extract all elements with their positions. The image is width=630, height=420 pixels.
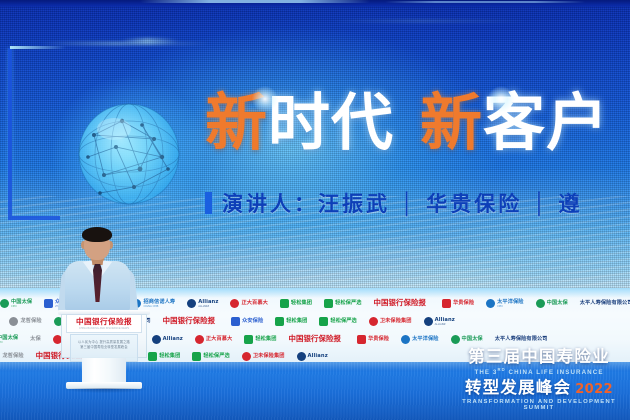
badge-en-ordinal: RD bbox=[497, 367, 505, 372]
badge-line1-cn: 第三届中国寿险业 bbox=[454, 349, 624, 366]
sponsor-logo: AllianzALLIANZ bbox=[187, 299, 218, 308]
sponsor-logo: 中国太保CPIC bbox=[0, 335, 18, 344]
sponsor-logo-mark bbox=[442, 299, 451, 308]
headline-accent-1: 新 bbox=[205, 86, 268, 159]
sponsor-logo-subtitle: ALLIANZ bbox=[435, 323, 455, 326]
sponsor-logo: 轻松集团 bbox=[244, 335, 276, 344]
sponsor-logo-name: Allianz bbox=[308, 353, 328, 359]
sponsor-logo-mark bbox=[275, 317, 284, 326]
podium-banner: 中国银行保险报 CHINA BANKING AND INSURANCE NEWS bbox=[67, 315, 141, 332]
sponsor-logo-name: 龙哲保险 bbox=[20, 318, 41, 324]
headline-plain-2: 客户 bbox=[483, 86, 609, 159]
sponsor-logo: 太平人寿保险有限公司 bbox=[495, 336, 548, 342]
headline-plain-1: 时代 bbox=[268, 86, 394, 159]
sponsor-logo-name: 中国太保 bbox=[462, 336, 483, 342]
sponsor-logo-name: 中国银行保险报 bbox=[289, 336, 341, 342]
sponsor-logo-mark bbox=[536, 299, 545, 308]
sponsor-logo-mark bbox=[244, 335, 253, 344]
sponsor-logo-name: 太平洋保险CPIC bbox=[497, 299, 523, 308]
sponsor-logo-name: 卫未保险集团 bbox=[380, 318, 412, 324]
sponsor-logo: 华贵保险 bbox=[442, 299, 474, 308]
sponsor-logo: 中国太保 bbox=[536, 299, 568, 308]
sponsor-logo: 太平人寿保险有限公司 bbox=[580, 300, 630, 306]
sponsor-logo-mark bbox=[230, 299, 239, 308]
sponsor-logo: 卫未保险集团 bbox=[369, 317, 412, 326]
sponsor-logo: 太平洋保险CPIC bbox=[486, 299, 523, 308]
sponsor-logo-mark bbox=[280, 299, 289, 308]
sponsor-logo-name: 中国银行保险报 bbox=[374, 300, 426, 306]
sponsor-logo: 正大百慕大 bbox=[195, 335, 232, 344]
sponsor-logo: 华贵保险 bbox=[357, 335, 389, 344]
sponsor-logo-name: Allianz bbox=[163, 336, 183, 342]
sponsor-logo-name: 轻松集团 bbox=[159, 353, 180, 359]
sponsor-logo-name: 轻松集团 bbox=[286, 318, 307, 324]
light-streak bbox=[40, 42, 210, 45]
sponsor-logo-mark bbox=[9, 317, 18, 326]
sponsor-logo-mark bbox=[231, 317, 240, 326]
sponsor-logo-name: 华贵保险 bbox=[368, 336, 389, 342]
sponsor-logo: 轻松集团 bbox=[275, 317, 307, 326]
sponsor-logo-mark bbox=[192, 352, 201, 361]
sponsor-logo-mark bbox=[187, 299, 196, 308]
badge-year: 2022 bbox=[575, 383, 613, 396]
sponsor-logo: 中国银行保险报 bbox=[374, 300, 426, 306]
sponsor-logo: 中国太保CPIC bbox=[0, 299, 32, 308]
podium-panel-line2: 第三届中国寿险业转型发展峰会 bbox=[70, 345, 138, 350]
sponsor-logo-name: 太保 bbox=[30, 336, 41, 342]
sponsor-logo-subtitle: CPIC bbox=[0, 341, 18, 344]
sponsor-logo: 轻松集团 bbox=[280, 299, 312, 308]
light-streak bbox=[330, 20, 530, 22]
sponsor-logo-name: 太平洋保险 bbox=[412, 336, 438, 342]
sponsor-logo-name: 中国太保CPIC bbox=[11, 299, 32, 308]
sponsor-logo-name: AllianzALLIANZ bbox=[198, 299, 218, 308]
sponsor-logo-name: 太平人寿保险有限公司 bbox=[495, 336, 548, 342]
decorative-corner-highlight bbox=[10, 46, 66, 49]
badge-en-prefix: THE 3 bbox=[474, 369, 497, 376]
sponsor-logo-name: 正大百慕大 bbox=[206, 336, 232, 342]
sponsor-logo: 正大百慕大 bbox=[230, 299, 267, 308]
podium-banner-title: 中国银行保险报 bbox=[76, 317, 132, 326]
podium-column bbox=[82, 358, 126, 384]
sponsor-logo-name: 中国太保CPIC bbox=[0, 335, 18, 344]
sponsor-logo-name: 轻松保严选 bbox=[203, 353, 229, 359]
sponsor-logo: 轻松保严选 bbox=[319, 317, 356, 326]
sponsor-logo-name: 众安保险 bbox=[242, 318, 263, 324]
event-title-badge: 第三届中国寿险业 THE 3RD CHINA LIFE INSURANCE 转型… bbox=[454, 349, 624, 412]
sponsor-logo-mark bbox=[0, 299, 9, 308]
sponsor-logo: 龙哲保险 bbox=[9, 317, 41, 326]
podium-panel-text: 以人民为中心 提升高质量发展之路 第三届中国寿险业转型发展峰会 bbox=[70, 340, 138, 350]
sponsor-logo-name: AllianzALLIANZ bbox=[435, 317, 455, 326]
badge-en-rest: CHINA LIFE INSURANCE bbox=[506, 369, 604, 376]
conference-stage-photo: 新时代新客户 演讲人：汪振武 │ 华贵保险 │ 遵 中国太保CPIC众安保险Zh… bbox=[0, 0, 630, 420]
sponsor-logo-name: 龙哲保险 bbox=[2, 353, 23, 359]
sponsor-logo: 轻松保严选 bbox=[324, 299, 361, 308]
sponsor-logo-name: 轻松保严选 bbox=[330, 318, 356, 324]
sponsor-logo-name: 轻松集团 bbox=[255, 336, 276, 342]
badge-line2-cn: 转型发展峰会 bbox=[465, 380, 571, 397]
screen-top-seam bbox=[385, 1, 585, 3]
sponsor-logo: 卫未保险集团 bbox=[242, 352, 285, 361]
sponsor-logo-mark bbox=[297, 352, 306, 361]
sponsor-logo-name: 太平人寿保险有限公司 bbox=[580, 300, 630, 306]
sponsor-logo: 轻松保严选 bbox=[192, 352, 229, 361]
headline-accent-2: 新 bbox=[420, 86, 483, 159]
sponsor-logo-name: 卫未保险集团 bbox=[253, 353, 285, 359]
sponsor-logo-name: 正大百慕大 bbox=[241, 300, 267, 306]
sponsor-logo-mark bbox=[357, 335, 366, 344]
badge-line2-en: TRANSFORMATION AND DEVELOPMENT SUMMIT bbox=[454, 400, 624, 412]
sponsor-logo-mark bbox=[324, 299, 333, 308]
sponsor-logo: AllianzALLIANZ bbox=[424, 317, 455, 326]
speaker-credit-text: 演讲人：汪振武 │ 华贵保险 │ 遵 bbox=[222, 188, 583, 218]
sponsor-logo-mark bbox=[424, 317, 433, 326]
sponsor-logo-subtitle: ALLIANZ bbox=[198, 305, 218, 308]
sponsor-logo-name: 中国银行保险报 bbox=[163, 318, 215, 324]
sponsor-logo-mark bbox=[242, 352, 251, 361]
podium-banner-subtitle: CHINA BANKING AND INSURANCE NEWS bbox=[79, 327, 129, 330]
speaker-at-podium: 中国银行保险报 CHINA BANKING AND INSURANCE NEWS… bbox=[48, 226, 158, 401]
page-title: 新时代新客户 bbox=[205, 88, 609, 158]
sponsor-logo-mark bbox=[369, 317, 378, 326]
subtitle-row: 演讲人：汪振武 │ 华贵保险 │ 遵 bbox=[205, 188, 583, 218]
badge-line1-en: THE 3RD CHINA LIFE INSURANCE bbox=[454, 368, 624, 376]
wireframe-globe-network-graphic bbox=[70, 95, 188, 213]
speaker-hair bbox=[82, 227, 112, 242]
decorative-corner-bracket bbox=[8, 48, 60, 220]
sponsor-logo: 龙哲保险 bbox=[0, 352, 24, 361]
screen-top-seam bbox=[140, 0, 370, 3]
light-streak bbox=[120, 38, 180, 44]
sponsor-logo-name: 中国太保 bbox=[547, 300, 568, 306]
sponsor-logo-mark bbox=[195, 335, 204, 344]
sponsor-logo: 太平洋保险 bbox=[401, 335, 438, 344]
sponsor-logo-name: 华贵保险 bbox=[453, 300, 474, 306]
podium-floor-shadow bbox=[62, 388, 148, 393]
sponsor-logo-mark bbox=[401, 335, 410, 344]
sponsor-logo-mark bbox=[451, 335, 460, 344]
sponsor-logo-mark bbox=[319, 317, 328, 326]
sponsor-logo: 众安保险 bbox=[231, 317, 263, 326]
sponsor-logo: 太保 bbox=[30, 336, 41, 342]
sponsor-logo: 中国太保 bbox=[451, 335, 483, 344]
sponsor-logo-subtitle: CPIC bbox=[497, 305, 523, 308]
globe-glow bbox=[52, 77, 206, 231]
badge-line2-row: 转型发展峰会 2022 bbox=[454, 380, 624, 397]
sponsor-logo: 中国银行保险报 bbox=[163, 318, 215, 324]
sponsor-logo: Allianz bbox=[297, 352, 328, 361]
sponsor-logo-mark bbox=[486, 299, 495, 308]
sponsor-logo-name: 轻松集团 bbox=[291, 300, 312, 306]
light-streak bbox=[250, 250, 550, 253]
sponsor-logo-subtitle: CPIC bbox=[11, 305, 32, 308]
sponsor-logo-name: 轻松保严选 bbox=[335, 300, 361, 306]
lectern-podium: 中国银行保险报 CHINA BANKING AND INSURANCE NEWS… bbox=[58, 310, 150, 390]
subtitle-bullet-mark bbox=[205, 192, 212, 214]
sponsor-logo: 中国银行保险报 bbox=[289, 336, 341, 342]
